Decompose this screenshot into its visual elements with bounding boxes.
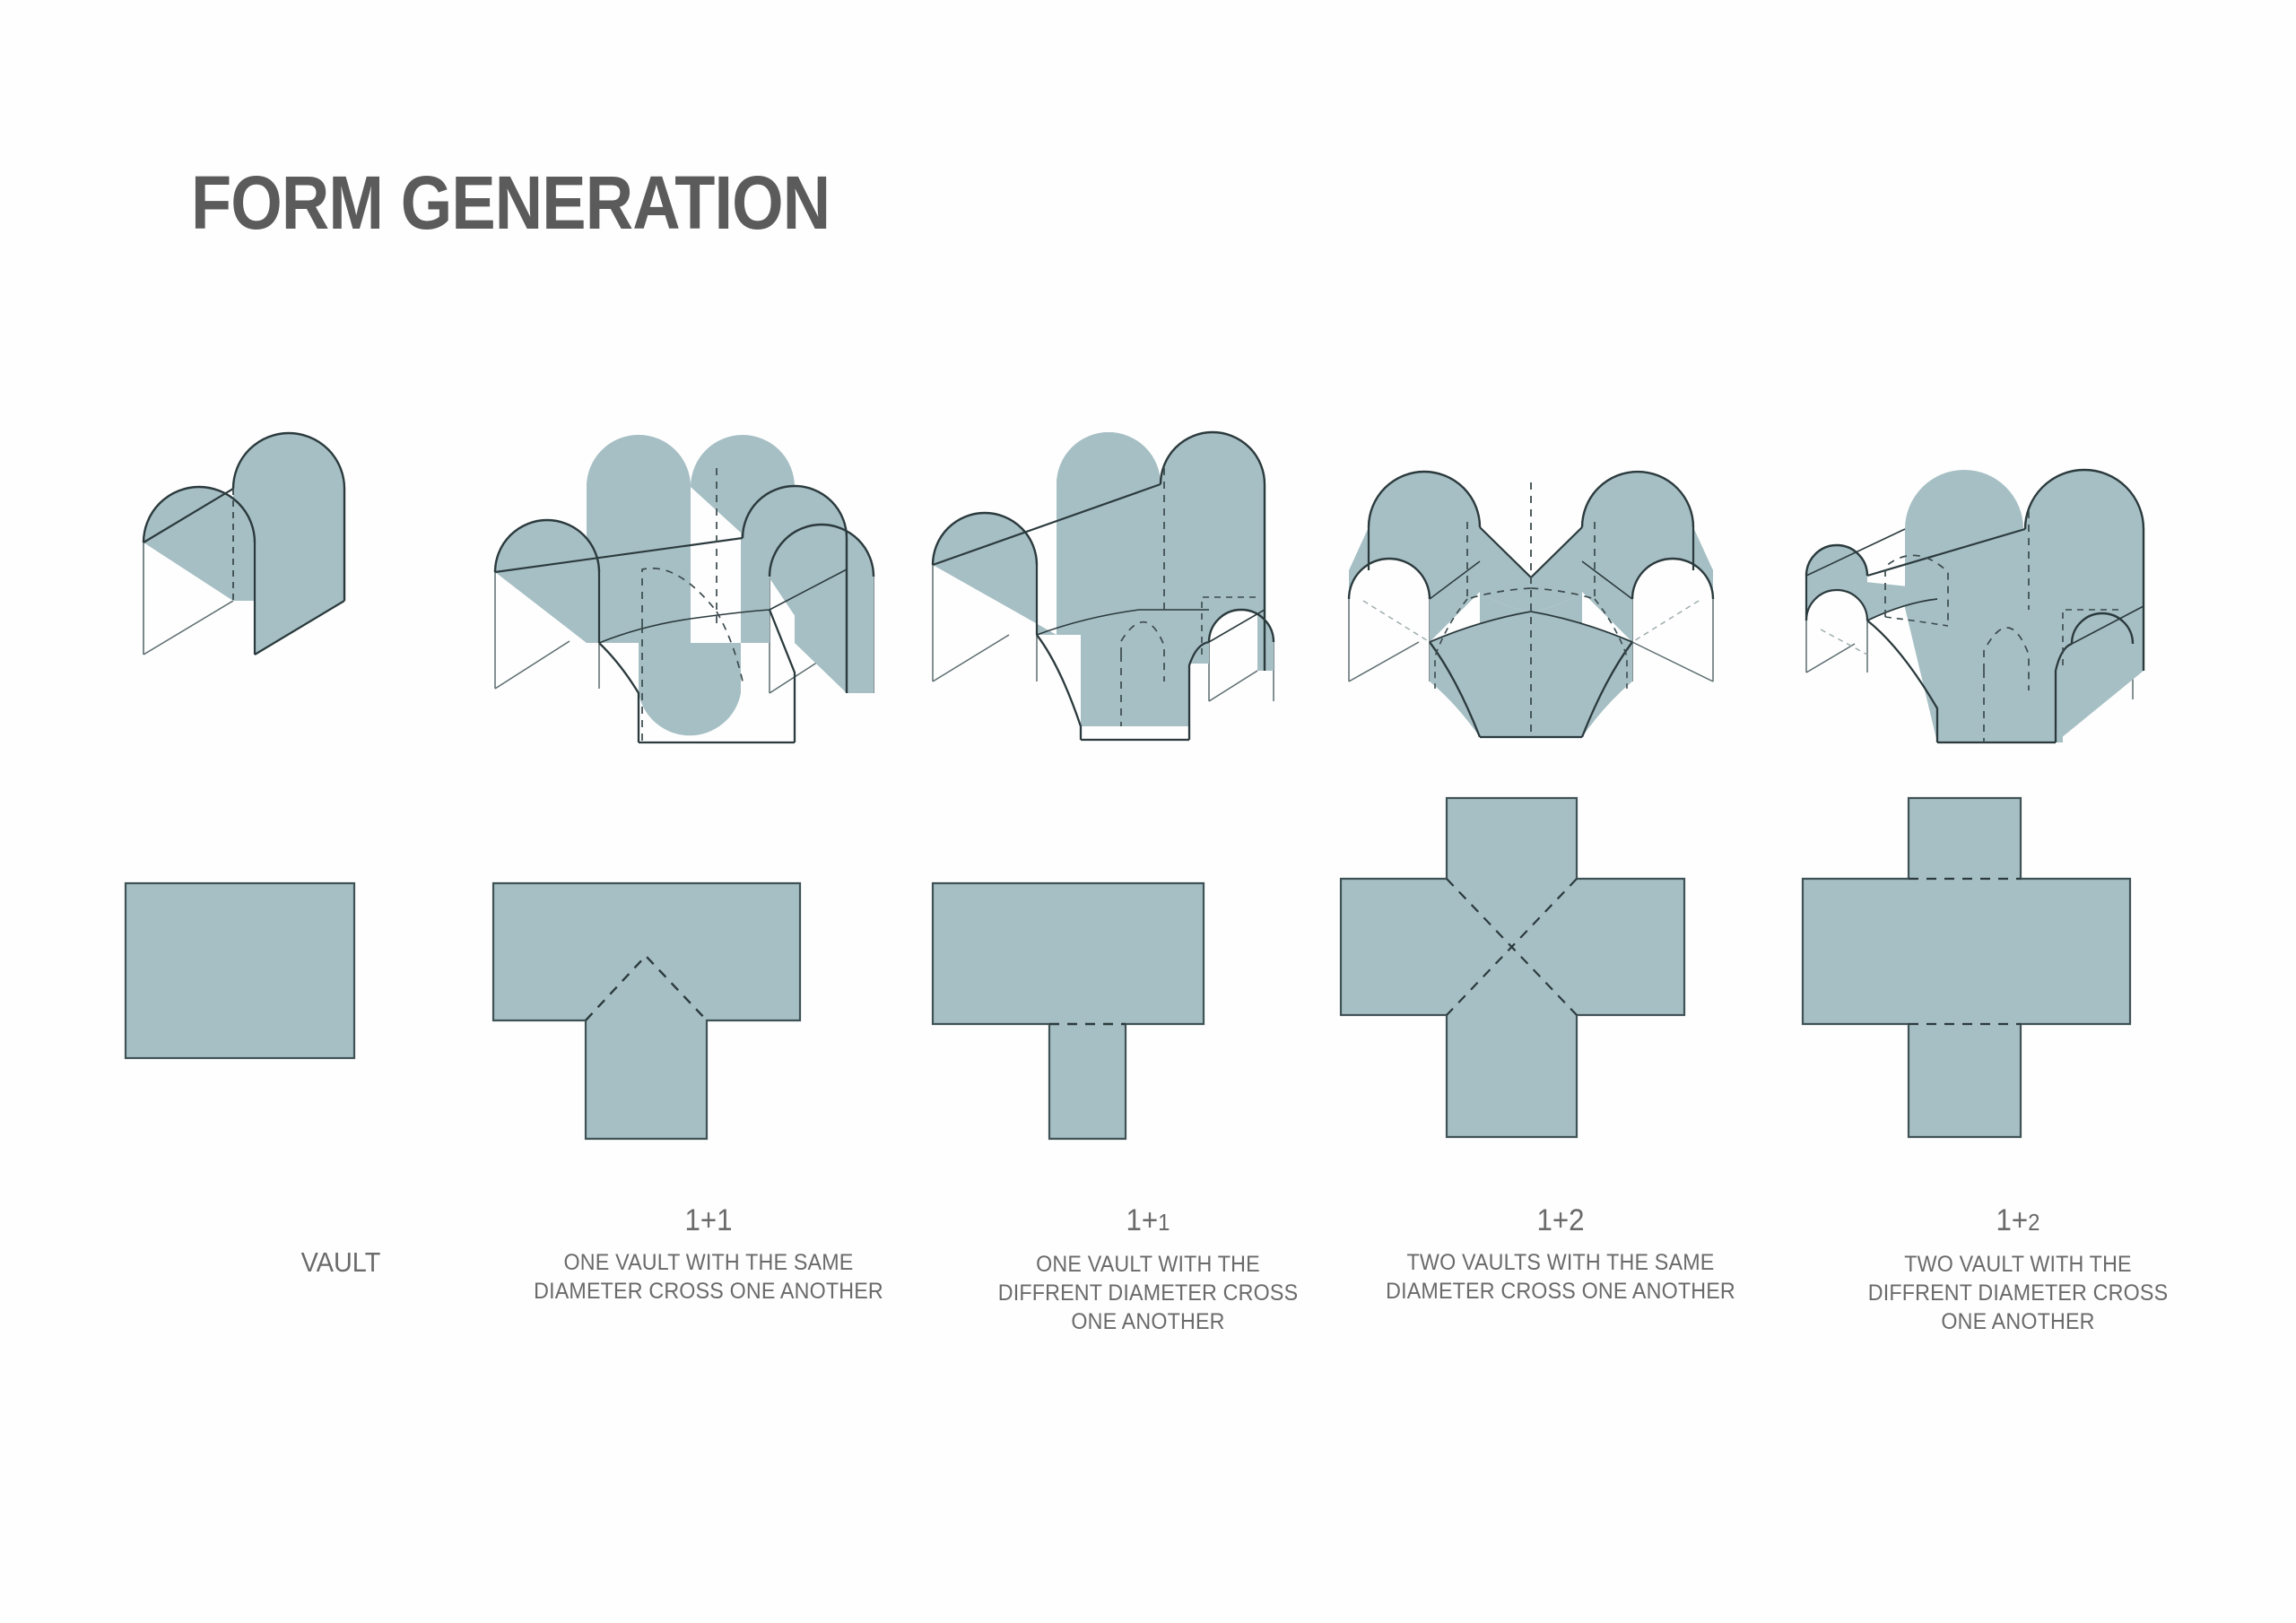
caption-description: TWO VAULT WITH THE DIFFRENT DIAMETER CRO… xyxy=(1810,1250,2227,1336)
caption-code-sub: 1 xyxy=(1158,1209,1170,1236)
caption-one-plus-one-same: 1+1 ONE VAULT WITH THE SAME DIAMETER CRO… xyxy=(484,1202,933,1306)
left-floor-line xyxy=(1806,644,1855,673)
front-big-fill xyxy=(1161,432,1265,726)
left-floor-line xyxy=(495,641,570,689)
left-floor-line xyxy=(1349,642,1419,681)
caption-one-plus-one-different: 1+1 ONE VAULT WITH THE DIFFRENT DIAMETER… xyxy=(924,1202,1372,1336)
plan-cross-x xyxy=(1336,780,1785,1157)
plan-cross-outline xyxy=(1341,798,1684,1137)
right-floor-line xyxy=(1209,671,1257,701)
hidden-left-floor xyxy=(1363,601,1430,642)
plan-cross-flat xyxy=(1794,780,2242,1157)
plan-t-flat xyxy=(924,780,1372,1157)
right-back-arch-thin xyxy=(1632,559,1713,681)
caption-description: TWO VAULTS WITH THE SAME DIAMETER CROSS … xyxy=(1352,1248,1770,1306)
left-floor-line xyxy=(933,635,1009,681)
caption-code: 1+2 xyxy=(1812,1202,2224,1241)
diagram-sheet: FORM GENERATION xyxy=(0,0,2296,1623)
plan-cross-outline xyxy=(1803,798,2130,1137)
form-generation-columns: VAULT xyxy=(0,0,2296,1623)
right-leg-outline xyxy=(770,610,795,742)
left-back-arch-thin xyxy=(1349,559,1430,681)
main-body-fill xyxy=(1905,529,2144,742)
plan-t-peak xyxy=(484,780,933,1157)
plan-main-rect xyxy=(126,883,354,1058)
caption-one-plus-two-same: 1+2 TWO VAULTS WITH THE SAME DIAMETER CR… xyxy=(1336,1202,1785,1306)
caption-one-plus-two-different: 1+2 TWO VAULT WITH THE DIFFRENT DIAMETER… xyxy=(1794,1202,2242,1336)
plan-t-outline xyxy=(933,883,1204,1139)
column-one-plus-two-same: 1+2 TWO VAULTS WITH THE SAME DIAMETER CR… xyxy=(1336,0,1785,1623)
column-one-plus-one-different: 1+1 ONE VAULT WITH THE DIFFRENT DIAMETER… xyxy=(924,0,1372,1623)
caption-code-sub: 2 xyxy=(2028,1209,2039,1236)
column-one-plus-two-different: 1+2 TWO VAULT WITH THE DIFFRENT DIAMETER… xyxy=(1794,0,2242,1623)
caption-code: 1+1 xyxy=(942,1202,1354,1241)
right-floor-line xyxy=(1632,642,1713,681)
left-small-arch-thin xyxy=(1806,590,1867,673)
caption-code: 1+1 xyxy=(502,1202,915,1239)
t-main-plate xyxy=(587,435,691,693)
caption-description: ONE VAULT WITH THE DIFFRENT DIAMETER CRO… xyxy=(940,1250,1357,1336)
iso-cross-vault-different-diameter xyxy=(1794,386,2242,744)
left-leg-outline xyxy=(599,643,639,742)
column-one-plus-one-same: 1+1 ONE VAULT WITH THE SAME DIAMETER CRO… xyxy=(484,0,933,1623)
iso-t-vault-different-diameter xyxy=(924,386,1372,744)
hidden-right-floor xyxy=(1632,601,1699,642)
caption-description: ONE VAULT WITH THE SAME DIAMETER CROSS O… xyxy=(500,1248,918,1306)
caption-code: 1+2 xyxy=(1354,1202,1767,1239)
floor-edge-line xyxy=(143,601,233,655)
plan-t-outline xyxy=(493,883,800,1139)
left-leg-outline xyxy=(1037,635,1081,740)
iso-cross-vault-same-diameter xyxy=(1336,386,1785,744)
iso-t-vault-same-diameter xyxy=(484,386,933,744)
